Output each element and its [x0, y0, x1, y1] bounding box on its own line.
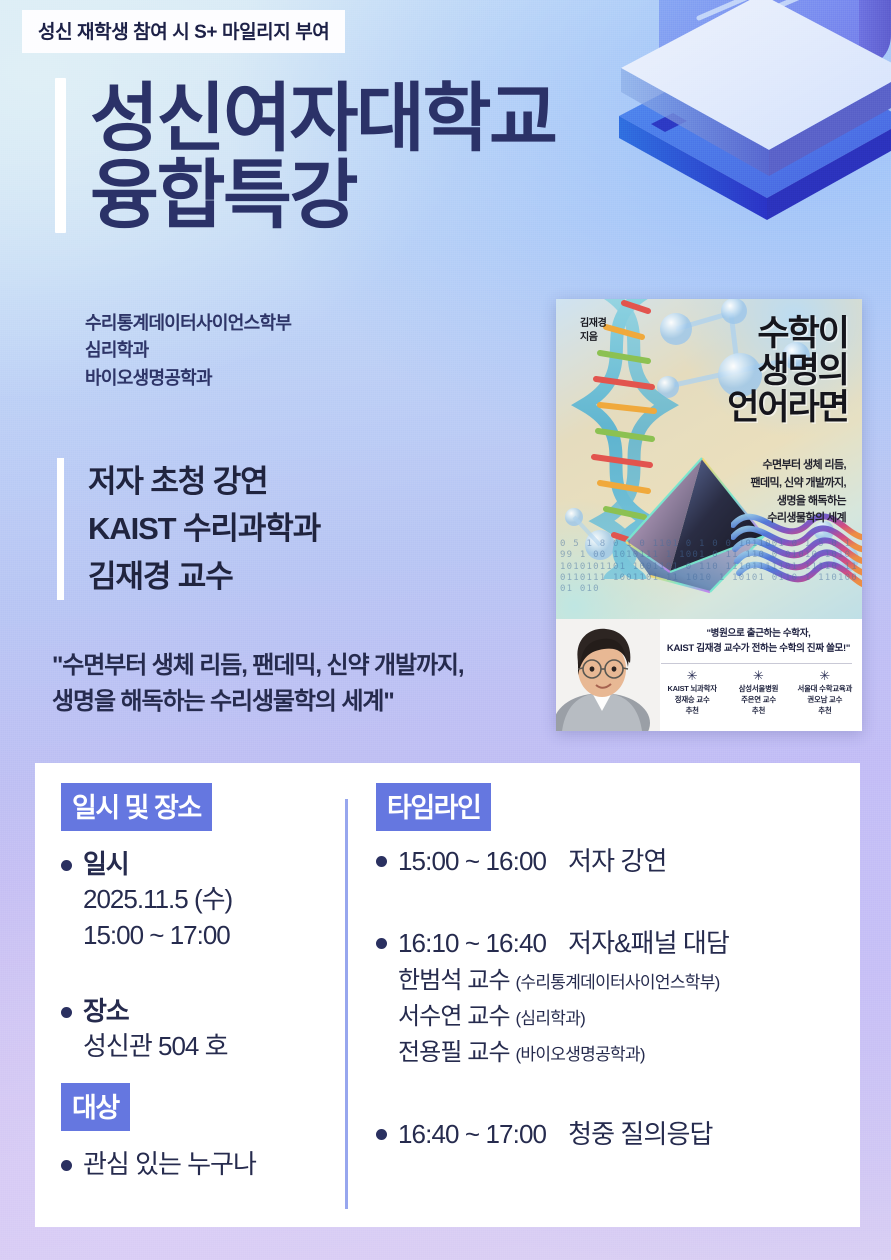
- book-cover-endorsement-band: "병원으로 출근하는 수학자, KAIST 김재경 교수가 전하는 수학의 진짜…: [556, 619, 862, 731]
- endorser-verb: 추천: [659, 706, 725, 717]
- endorser-verb: 추천: [725, 706, 791, 717]
- endorser-list: ✳ KAIST 뇌과학자 정재승 교수 추천 ✳ 삼성서울병원 주은연 교수 추…: [659, 669, 858, 717]
- venue-label: 장소: [83, 994, 345, 1029]
- endorser-item: ✳ 삼성서울병원 주은연 교수 추천: [725, 669, 791, 717]
- panelist-row: 전용필 교수 (바이오생명공학과): [398, 1036, 860, 1070]
- bullet-dot-icon: [376, 1129, 387, 1140]
- endorsement-quote: "병원으로 출근하는 수학자, KAIST 김재경 교수가 전하는 수학의 진짜…: [661, 627, 856, 656]
- section-badge-audience: 대상: [61, 1083, 130, 1131]
- panelist-dept: (수리통계데이터사이언스학부): [515, 973, 719, 992]
- section-badge-datetime-venue: 일시 및 장소: [61, 783, 212, 831]
- venue-room: 성신관 504 호: [83, 1029, 345, 1065]
- endorser-name: 권오남 교수: [792, 695, 858, 706]
- department-item-0: 수리통계데이터사이언스학부: [85, 310, 291, 337]
- book-subtitle: 수면부터 생체 리듬, 팬데믹, 신약 개발까지, 생명을 해독하는 수리생물학…: [750, 457, 846, 528]
- endorser-item: ✳ KAIST 뇌과학자 정재승 교수 추천: [659, 669, 725, 717]
- timeline-item: 15:00 ~ 16:00저자 강연: [376, 843, 860, 879]
- mileage-badge: 성신 재학생 참여 시 S+ 마일리지 부여: [22, 10, 345, 53]
- speaker-block: 저자 초청 강연 KAIST 수리과학과 김재경 교수: [57, 458, 320, 600]
- book-subtitle-line-4: 수리생물학의 세계: [750, 510, 846, 528]
- author-portrait: [556, 619, 660, 731]
- endorser-affiliation: 삼성서울병원: [725, 684, 791, 695]
- timeline-item: 16:10 ~ 16:40저자&패널 대담 한범석 교수 (수리통계데이터사이언…: [376, 925, 860, 1070]
- list-item: 장소 성신관 504 호: [61, 994, 345, 1065]
- section-badge-timeline: 타임라인: [376, 783, 491, 831]
- tagline-line-1: "수면부터 생체 리듬, 팬데믹, 신약 개발까지,: [52, 648, 463, 684]
- list-item: 관심 있는 누구나: [61, 1147, 345, 1183]
- book-author-verb: 지음: [580, 331, 606, 345]
- endorser-verb: 추천: [792, 706, 858, 717]
- page-title: 성신여자대학교 융합특강: [55, 78, 556, 233]
- timeline-label: 저자&패널 대담: [568, 928, 729, 958]
- speaker-name: 김재경 교수: [88, 553, 320, 600]
- title-accent-bar: [55, 78, 66, 233]
- poster-canvas: 성신 재학생 참여 시 S+ 마일리지 부여 성신여자대학교 융합특강 수리통계…: [0, 0, 891, 1260]
- timeline-time: 16:10 ~ 16:40: [398, 925, 546, 961]
- endorser-affiliation: 서울대 수학교육과: [792, 684, 858, 695]
- timeline-column: 타임라인 15:00 ~ 16:00저자 강연 16:10 ~ 16:40저자&…: [348, 763, 860, 1227]
- endorser-affiliation: KAIST 뇌과학자: [659, 684, 725, 695]
- panelist-dept: (바이오생명공학과): [515, 1045, 644, 1064]
- endorser-name: 주은연 교수: [725, 695, 791, 706]
- endorsement-quote-line-1: "병원으로 출근하는 수학자,: [661, 627, 856, 642]
- department-list: 수리통계데이터사이언스학부 심리학과 바이오생명공학과: [85, 310, 291, 392]
- department-item-2: 바이오생명공학과: [85, 365, 291, 392]
- endorsement-divider: [661, 663, 852, 664]
- isometric-book-speech-bubble-icon: [591, 0, 891, 290]
- timeline-item: 16:40 ~ 17:00청중 질의응답: [376, 1116, 860, 1152]
- datetime-label: 일시: [83, 847, 345, 882]
- endorser-item: ✳ 서울대 수학교육과 권오남 교수 추천: [792, 669, 858, 717]
- sparkle-icon: ✳: [659, 669, 725, 683]
- panelist-row: 서수연 교수 (심리학과): [398, 1000, 860, 1034]
- timeline-label: 청중 질의응답: [568, 1119, 712, 1149]
- book-author-name: 김재경: [580, 317, 606, 331]
- binary-code-texture: 0 5 1 8 0 1 0 1101 0 1 0 0 1011001 0 1 5…: [556, 539, 862, 617]
- title-line-2: 융합특강: [90, 157, 556, 234]
- bullet-dot-icon: [61, 1160, 72, 1171]
- panelist-row: 한범석 교수 (수리통계데이터사이언스학부): [398, 964, 860, 998]
- book-title-line-3: 언어라면: [727, 389, 848, 426]
- bullet-dot-icon: [61, 1007, 72, 1018]
- speaker-accent-bar: [57, 458, 64, 600]
- book-cover-image: 0 5 1 8 0 1 0 1101 0 1 0 0 1011001 0 1 5…: [556, 299, 862, 731]
- sparkle-icon: ✳: [725, 669, 791, 683]
- title-line-1: 성신여자대학교: [90, 80, 556, 157]
- book-subtitle-line-3: 생명을 해독하는: [750, 493, 846, 511]
- panelist-name: 서수연 교수: [398, 1003, 510, 1030]
- book-title: 수학이 생명의 언어라면: [727, 315, 848, 426]
- speaker-affiliation: KAIST 수리과학과: [88, 505, 320, 552]
- book-title-line-1: 수학이: [727, 315, 848, 352]
- bullet-dot-icon: [61, 860, 72, 871]
- timeline-label: 저자 강연: [568, 846, 666, 876]
- book-subtitle-line-2: 팬데믹, 신약 개발까지,: [750, 475, 846, 493]
- timeline-time: 16:40 ~ 17:00: [398, 1116, 546, 1152]
- endorser-name: 정재승 교수: [659, 695, 725, 706]
- audience-value: 관심 있는 누구나: [83, 1147, 345, 1183]
- speaker-event-type: 저자 초청 강연: [88, 458, 320, 505]
- book-author-credit: 김재경 지음: [580, 317, 606, 345]
- sparkle-icon: ✳: [792, 669, 858, 683]
- lecture-tagline: "수면부터 생체 리듬, 팬데믹, 신약 개발까지, 생명을 해독하는 수리생물…: [52, 648, 463, 721]
- info-panel: 일시 및 장소 일시 2025.11.5 (수) 15:00 ~ 17:00 장…: [35, 763, 860, 1227]
- datetime-venue-column: 일시 및 장소 일시 2025.11.5 (수) 15:00 ~ 17:00 장…: [35, 763, 345, 1227]
- book-subtitle-line-1: 수면부터 생체 리듬,: [750, 457, 846, 475]
- bullet-dot-icon: [376, 856, 387, 867]
- datetime-date: 2025.11.5 (수): [83, 882, 345, 918]
- panelist-name: 전용필 교수: [398, 1039, 510, 1066]
- endorsement-quote-line-2: KAIST 김재경 교수가 전하는 수학의 진짜 쓸모!": [661, 642, 856, 657]
- datetime-time: 15:00 ~ 17:00: [83, 918, 345, 954]
- book-cover-artwork: 0 5 1 8 0 1 0 1101 0 1 0 0 1011001 0 1 5…: [556, 299, 862, 619]
- panelist-name: 한범석 교수: [398, 967, 510, 994]
- department-item-1: 심리학과: [85, 337, 291, 364]
- list-item: 일시 2025.11.5 (수) 15:00 ~ 17:00: [61, 847, 345, 954]
- timeline-time: 15:00 ~ 16:00: [398, 843, 546, 879]
- tagline-line-2: 생명을 해독하는 수리생물학의 세계": [52, 684, 463, 720]
- bullet-dot-icon: [376, 938, 387, 949]
- book-title-line-2: 생명의: [727, 352, 848, 389]
- panelist-dept: (심리학과): [515, 1009, 585, 1028]
